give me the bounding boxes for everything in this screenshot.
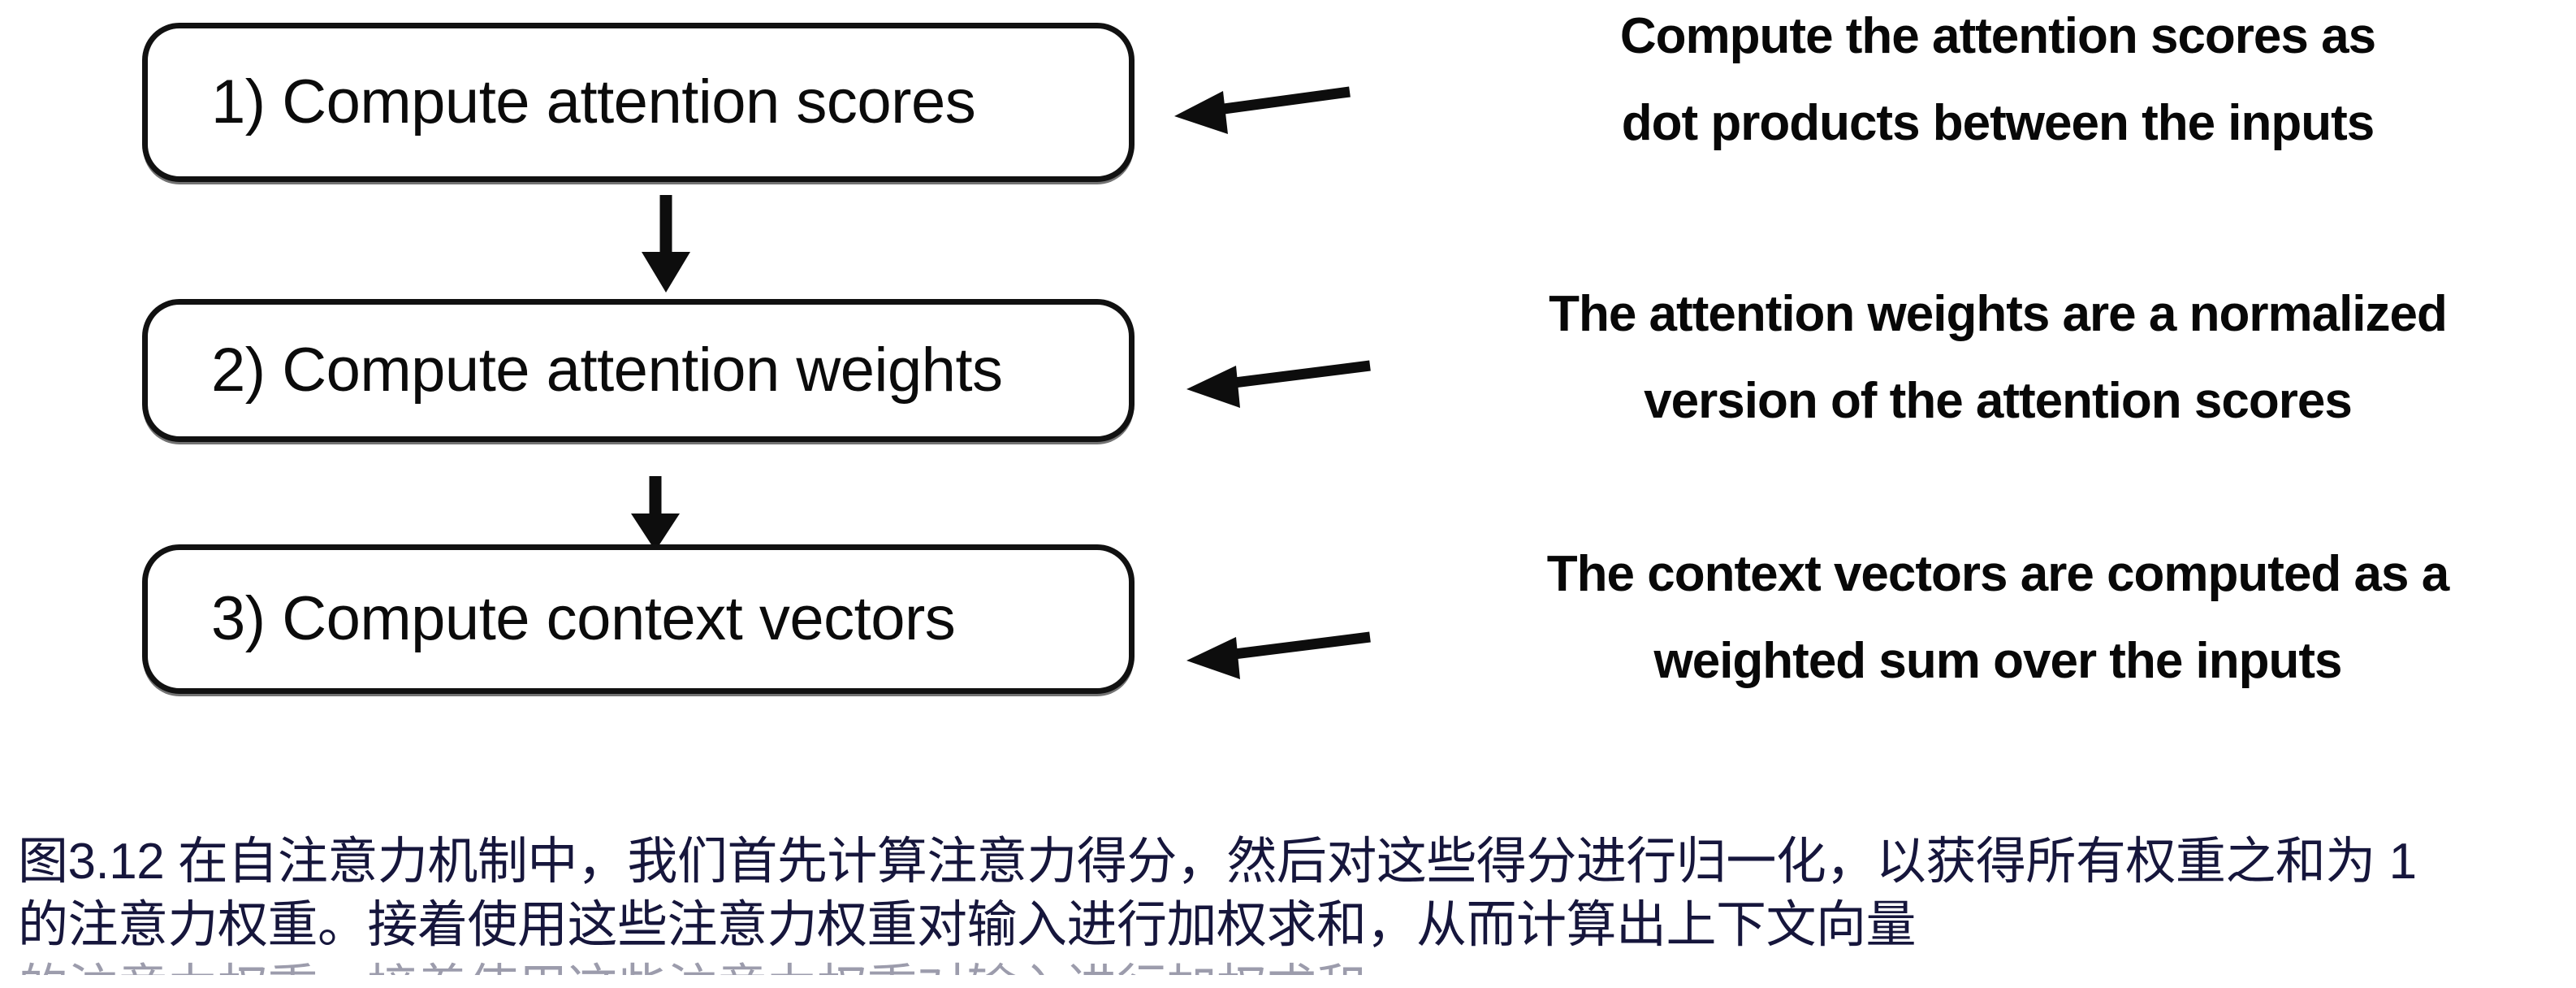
annotation-line: weighted sum over the inputs: [1429, 636, 2566, 687]
annotation-attention-weights: The attention weights are a normalized v…: [1429, 289, 2566, 427]
caption-line-2: 的注意力权重。接着使用这些注意力权重对输入进行加权求和，从而计算出上下文向量: [18, 894, 2560, 957]
annotation-attention-scores: Compute the attention scores as dot prod…: [1429, 11, 2566, 149]
down-arrow-1-icon: [642, 195, 690, 292]
annotation-line: dot products between the inputs: [1429, 98, 2566, 149]
down-arrow-2-icon: [631, 476, 680, 551]
annotation-line: The attention weights are a normalized: [1429, 289, 2566, 340]
step-box-compute-attention-weights[interactable]: 2) Compute attention weights: [142, 299, 1135, 442]
annotation-line: Compute the attention scores as: [1429, 11, 2566, 62]
step-label: 2) Compute attention weights: [148, 340, 1003, 401]
annotation-context-vectors: The context vectors are computed as a we…: [1429, 549, 2566, 687]
caption-line-1: 图3.12 在自注意力机制中，我们首先计算注意力得分，然后对这些得分进行归一化，…: [18, 830, 2560, 894]
caption-line-3-clipped: 的注意力权重。接着使用这些注意力权重对输入进行加权求和: [18, 957, 2560, 975]
figure-caption: 图3.12 在自注意力机制中，我们首先计算注意力得分，然后对这些得分进行归一化，…: [18, 830, 2560, 975]
step-box-compute-context-vectors[interactable]: 3) Compute context vectors: [142, 544, 1135, 694]
step-box-compute-attention-scores[interactable]: 1) Compute attention scores: [142, 23, 1135, 182]
attention-steps-diagram: 1) Compute attention scores 2) Compute a…: [0, 0, 2576, 764]
annotation-line: version of the attention scores: [1429, 376, 2566, 427]
callout-arrow-2-icon: [1186, 366, 1370, 408]
step-label: 1) Compute attention scores: [148, 71, 975, 133]
callout-arrow-3-icon: [1186, 637, 1370, 679]
step-label: 3) Compute context vectors: [148, 588, 955, 650]
callout-arrow-1-icon: [1174, 91, 1350, 134]
figure-root: 1) Compute attention scores 2) Compute a…: [0, 0, 2576, 988]
annotation-line: The context vectors are computed as a: [1429, 549, 2566, 600]
